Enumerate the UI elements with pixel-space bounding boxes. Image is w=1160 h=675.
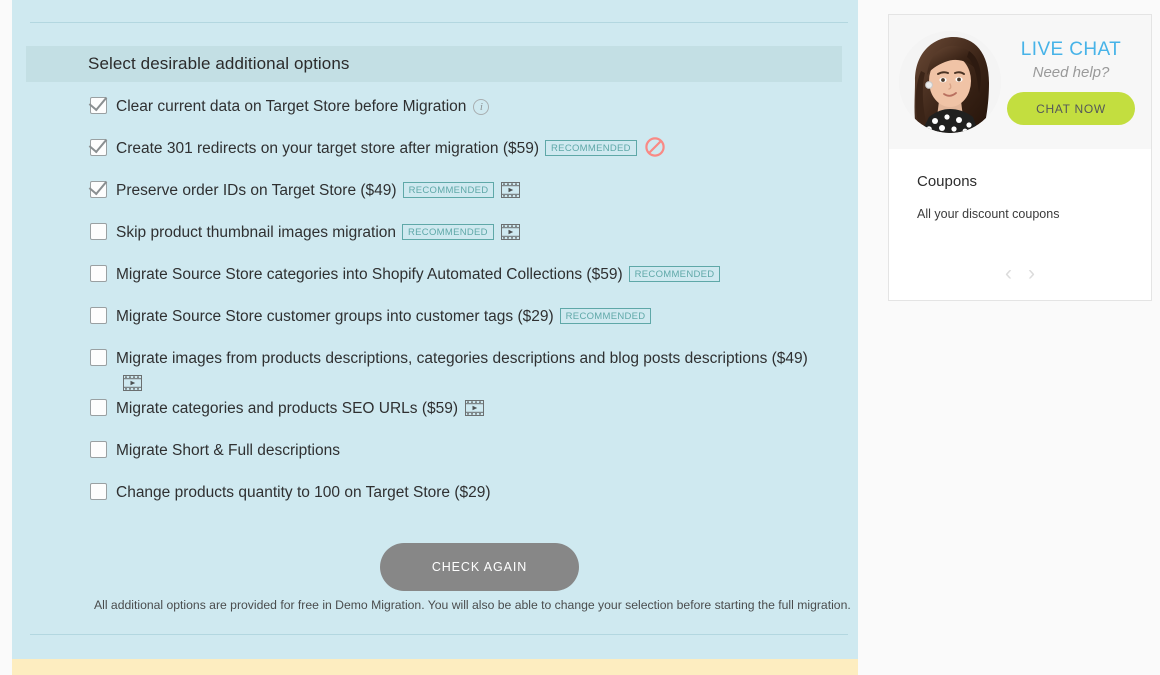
option-label-wrap: Clear current data on Target Store befor… <box>116 94 489 119</box>
section-header: Select desirable additional options <box>26 46 842 82</box>
option-row[interactable]: Clear current data on Target Store befor… <box>26 94 856 136</box>
additional-options-panel: Select desirable additional options Clea… <box>12 0 858 659</box>
check-again-button[interactable]: CHECK AGAIN <box>380 543 579 591</box>
chat-now-button[interactable]: CHAT NOW <box>1007 92 1135 125</box>
live-chat-widget: LIVE CHAT Need help? CHAT NOW <box>889 15 1151 149</box>
option-checkbox[interactable] <box>90 223 107 240</box>
option-checkbox[interactable] <box>90 349 107 366</box>
option-row[interactable]: Create 301 redirects on your target stor… <box>26 136 856 178</box>
option-label-wrap: Change products quantity to 100 on Targe… <box>116 480 491 505</box>
prohibited-icon[interactable] <box>645 137 665 157</box>
option-label: Migrate Source Store categories into Sho… <box>116 266 623 283</box>
option-checkbox[interactable] <box>90 399 107 416</box>
coupons-title: Coupons <box>917 173 1123 190</box>
top-divider <box>30 22 848 23</box>
info-icon[interactable]: i <box>473 99 489 115</box>
option-label-wrap: Migrate Short & Full descriptions <box>116 438 340 463</box>
footnote-text: All additional options are provided for … <box>94 597 858 613</box>
coupons-subtitle: All your discount coupons <box>917 207 1123 221</box>
recommended-badge: RECOMMENDED <box>629 266 721 282</box>
option-checkbox[interactable] <box>90 265 107 282</box>
video-icon[interactable] <box>501 223 520 239</box>
option-label: Change products quantity to 100 on Targe… <box>116 484 491 501</box>
option-label-wrap: Preserve order IDs on Target Store ($49)… <box>116 178 520 203</box>
recommended-badge: RECOMMENDED <box>402 224 494 240</box>
options-list: Clear current data on Target Store befor… <box>26 94 856 522</box>
recommended-badge: RECOMMENDED <box>403 182 495 198</box>
option-checkbox[interactable] <box>90 307 107 324</box>
bottom-divider <box>30 634 848 635</box>
coupons-card: Coupons All your discount coupons ‹ › <box>889 149 1151 300</box>
option-label-wrap: Migrate Source Store customer groups int… <box>116 304 651 329</box>
sidebar: LIVE CHAT Need help? CHAT NOW Coupons Al… <box>888 14 1152 301</box>
option-label: Migrate images from products description… <box>116 350 808 367</box>
option-label-wrap: Migrate Source Store categories into Sho… <box>116 262 720 287</box>
live-chat-text: LIVE CHAT Need help? CHAT NOW <box>1001 39 1137 125</box>
option-row[interactable]: Preserve order IDs on Target Store ($49)… <box>26 178 856 220</box>
option-row[interactable]: Migrate images from products description… <box>26 346 856 396</box>
option-checkbox[interactable] <box>90 97 107 114</box>
page-title: Select desirable additional options <box>88 54 350 74</box>
option-label: Preserve order IDs on Target Store ($49) <box>116 182 397 199</box>
option-label: Create 301 redirects on your target stor… <box>116 140 539 157</box>
option-label: Clear current data on Target Store befor… <box>116 98 466 115</box>
option-label: Migrate categories and products SEO URLs… <box>116 400 458 417</box>
carousel-next-icon[interactable]: › <box>1028 263 1035 284</box>
option-label-wrap: Skip product thumbnail images migrationR… <box>116 220 520 245</box>
option-checkbox[interactable] <box>90 181 107 198</box>
carousel-prev-icon[interactable]: ‹ <box>1005 263 1012 284</box>
page-root: Select desirable additional options Clea… <box>0 0 1160 675</box>
option-row[interactable]: Migrate Source Store categories into Sho… <box>26 262 856 304</box>
live-chat-subtitle: Need help? <box>1005 64 1137 81</box>
option-row[interactable]: Migrate Source Store customer groups int… <box>26 304 856 346</box>
option-label-wrap: Create 301 redirects on your target stor… <box>116 136 665 161</box>
option-label: Migrate Short & Full descriptions <box>116 442 340 459</box>
option-checkbox[interactable] <box>90 139 107 156</box>
option-row[interactable]: Migrate categories and products SEO URLs… <box>26 396 856 438</box>
video-icon[interactable] <box>123 374 142 390</box>
option-label: Migrate Source Store customer groups int… <box>116 308 554 325</box>
option-label: Skip product thumbnail images migration <box>116 224 396 241</box>
support-agent-avatar <box>899 31 1001 133</box>
option-row[interactable]: Migrate Short & Full descriptions <box>26 438 856 480</box>
option-checkbox[interactable] <box>90 483 107 500</box>
sidebar-card: LIVE CHAT Need help? CHAT NOW Coupons Al… <box>888 14 1152 301</box>
option-label-wrap: Migrate images from products description… <box>116 346 816 396</box>
video-icon[interactable] <box>501 181 520 197</box>
recommended-badge: RECOMMENDED <box>560 308 652 324</box>
option-row[interactable]: Change products quantity to 100 on Targe… <box>26 480 856 522</box>
video-icon[interactable] <box>465 399 484 415</box>
live-chat-title: LIVE CHAT <box>1005 39 1137 61</box>
option-row[interactable]: Skip product thumbnail images migrationR… <box>26 220 856 262</box>
bottom-notice-strip <box>12 659 858 675</box>
option-label-wrap: Migrate categories and products SEO URLs… <box>116 396 484 421</box>
recommended-badge: RECOMMENDED <box>545 140 637 156</box>
option-checkbox[interactable] <box>90 441 107 458</box>
coupons-carousel: ‹ › <box>889 263 1151 284</box>
